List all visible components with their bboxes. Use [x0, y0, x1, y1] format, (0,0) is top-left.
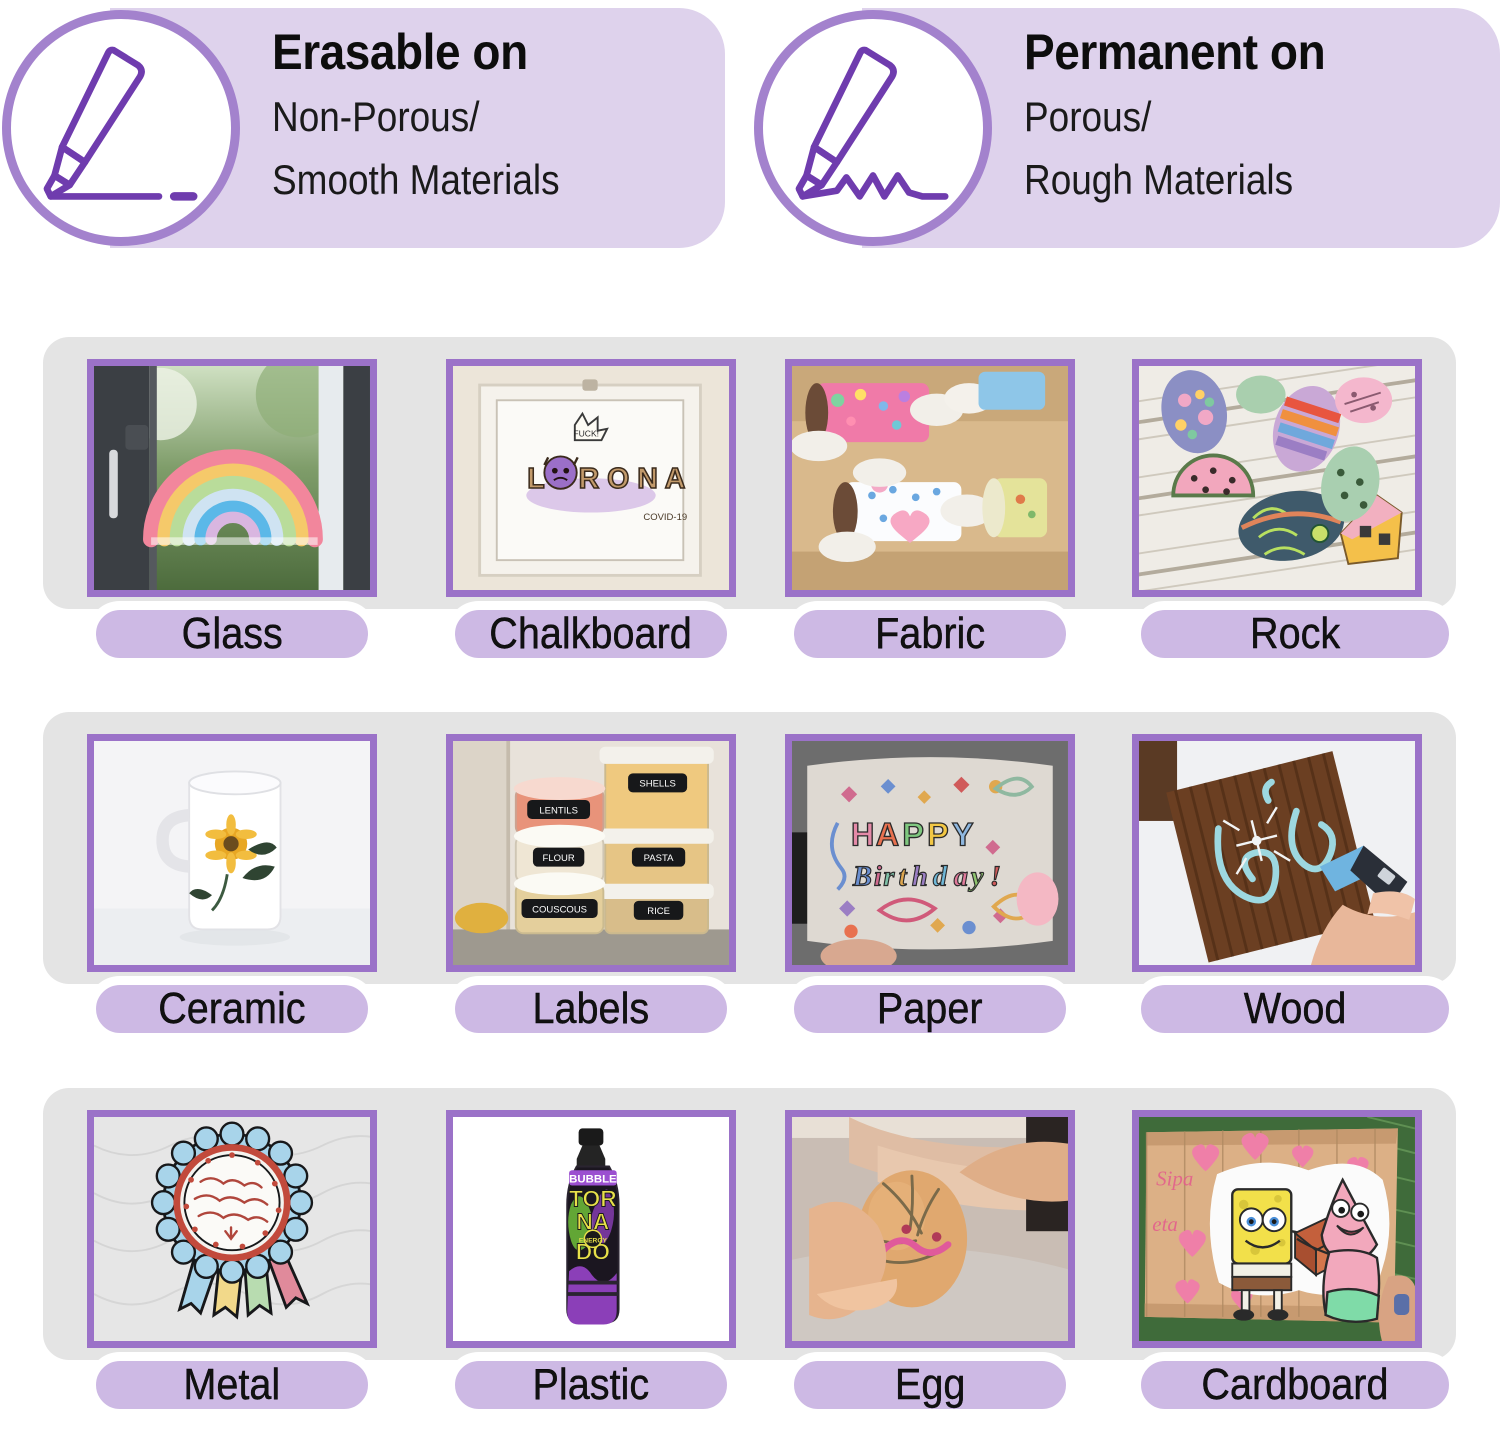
material-thumbnail-fabric — [785, 359, 1075, 597]
material-cell-glass[interactable]: Glass — [87, 337, 377, 667]
svg-text:SHELLS: SHELLS — [639, 779, 675, 790]
material-label-pill[interactable]: Egg — [785, 1352, 1075, 1418]
material-label: Cardboard — [1201, 1363, 1388, 1407]
svg-text:Y: Y — [952, 817, 974, 853]
svg-text:L: L — [527, 463, 544, 495]
marker-zigzag-line-icon — [754, 10, 992, 246]
material-label: Rock — [1250, 612, 1340, 656]
svg-text:h: h — [912, 862, 928, 893]
svg-text:COUSCOUS: COUSCOUS — [532, 904, 587, 915]
svg-text:A: A — [876, 817, 899, 853]
material-label: Metal — [184, 1363, 281, 1407]
svg-text:FUCK!: FUCK! — [573, 428, 599, 438]
material-label: Paper — [877, 987, 983, 1031]
material-label-pill[interactable]: Paper — [785, 976, 1075, 1042]
material-label: Egg — [895, 1363, 965, 1407]
material-thumbnail-paper: H A P P Y B i r t h d a y — [785, 734, 1075, 972]
material-label-pill[interactable]: Rock — [1132, 601, 1458, 667]
material-thumbnail-plastic: BUBBLE TOR NA DO ENERGY — [446, 1110, 736, 1348]
material-thumbnail-chalkboard: FUCK! L R O N A COVID-19 — [446, 359, 736, 597]
material-cell-egg[interactable]: Egg — [785, 1088, 1075, 1418]
svg-text:P: P — [902, 817, 924, 853]
material-label: Labels — [533, 987, 650, 1031]
svg-text:COVID-19: COVID-19 — [643, 512, 687, 523]
header-banner-permanent: Permanent on Porous/ Rough Materials — [752, 8, 1500, 248]
material-label: Ceramic — [158, 987, 305, 1031]
material-label-pill[interactable]: Cardboard — [1132, 1352, 1458, 1418]
material-thumbnail-ceramic — [87, 734, 377, 972]
material-label-pill[interactable]: Labels — [446, 976, 736, 1042]
svg-text:R O N A: R O N A — [579, 463, 686, 495]
material-cell-metal[interactable]: Metal — [87, 1088, 377, 1418]
material-cell-labels[interactable]: SHELLS PASTA RICE LENTILS FLOUR COUSCOUS… — [446, 712, 736, 1042]
svg-text:a: a — [954, 862, 968, 893]
material-label: Wood — [1244, 987, 1347, 1031]
material-cell-chalkboard[interactable]: FUCK! L R O N A COVID-19 Chalkboard — [446, 337, 736, 667]
svg-text:ENERGY: ENERGY — [579, 1238, 608, 1245]
material-thumbnail-metal — [87, 1110, 377, 1348]
svg-text:B: B — [852, 862, 872, 893]
svg-text:i: i — [874, 862, 882, 893]
material-label-pill[interactable]: Metal — [87, 1352, 377, 1418]
banner-text-block-erasable: Erasable on Non-Porous/ Smooth Materials — [272, 22, 702, 208]
svg-text:BUBBLE: BUBBLE — [569, 1174, 617, 1186]
material-thumbnail-glass — [87, 359, 377, 597]
svg-text:Sipa: Sipa — [1156, 1167, 1193, 1191]
material-cell-plastic[interactable]: BUBBLE TOR NA DO ENERGY Plastic — [446, 1088, 736, 1418]
material-thumbnail-labels: SHELLS PASTA RICE LENTILS FLOUR COUSCOUS — [446, 734, 736, 972]
svg-text:r: r — [883, 862, 895, 893]
banner-subtitle-line2: Rough Materials — [1024, 151, 1429, 208]
svg-text:!: ! — [990, 862, 1001, 893]
svg-text:y: y — [968, 862, 984, 893]
material-thumbnail-wood — [1132, 734, 1422, 972]
svg-text:eta: eta — [1152, 1212, 1178, 1236]
material-thumbnail-cardboard: Sipa eta — [1132, 1110, 1422, 1348]
banner-title: Permanent on — [1024, 22, 1447, 82]
material-label-pill[interactable]: Glass — [87, 601, 377, 667]
svg-text:FLOUR: FLOUR — [543, 853, 575, 864]
banner-title: Erasable on — [272, 22, 668, 82]
header-banner-erasable: Erasable on Non-Porous/ Smooth Materials — [0, 8, 725, 248]
material-cell-cardboard[interactable]: Sipa eta — [1132, 1088, 1422, 1418]
svg-text:P: P — [927, 817, 949, 853]
svg-text:H: H — [851, 817, 874, 853]
svg-text:PASTA: PASTA — [644, 853, 674, 864]
material-label-pill[interactable]: Fabric — [785, 601, 1075, 667]
banner-subtitle-line2: Smooth Materials — [272, 151, 650, 208]
material-label-pill[interactable]: Ceramic — [87, 976, 377, 1042]
material-thumbnail-rock — [1132, 359, 1422, 597]
svg-text:t: t — [899, 862, 908, 893]
material-label-pill[interactable]: Plastic — [446, 1352, 736, 1418]
material-cell-ceramic[interactable]: Ceramic — [87, 712, 377, 1042]
material-cell-paper[interactable]: H A P P Y B i r t h d a y — [785, 712, 1075, 1042]
material-cell-fabric[interactable]: Fabric — [785, 337, 1075, 667]
banner-subtitle-line1: Porous/ — [1024, 88, 1429, 145]
material-label-pill[interactable]: Chalkboard — [446, 601, 736, 667]
svg-text:d: d — [933, 862, 948, 893]
material-label-pill[interactable]: Wood — [1132, 976, 1458, 1042]
svg-text:LENTILS: LENTILS — [539, 805, 578, 816]
material-label: Glass — [181, 612, 282, 656]
material-thumbnail-egg — [785, 1110, 1075, 1348]
banner-text-block-permanent: Permanent on Porous/ Rough Materials — [1024, 22, 1484, 208]
svg-text:RICE: RICE — [647, 906, 670, 917]
banner-subtitle-line1: Non-Porous/ — [272, 88, 650, 145]
material-label: Chalkboard — [490, 612, 693, 656]
marker-straight-line-icon — [2, 10, 240, 246]
material-cell-rock[interactable]: Rock — [1132, 337, 1422, 667]
material-label: Plastic — [533, 1363, 650, 1407]
material-label: Fabric — [875, 612, 985, 656]
infographic-page: Erasable on Non-Porous/ Smooth Materials… — [0, 0, 1500, 1440]
material-cell-wood[interactable]: Wood — [1132, 712, 1422, 1042]
